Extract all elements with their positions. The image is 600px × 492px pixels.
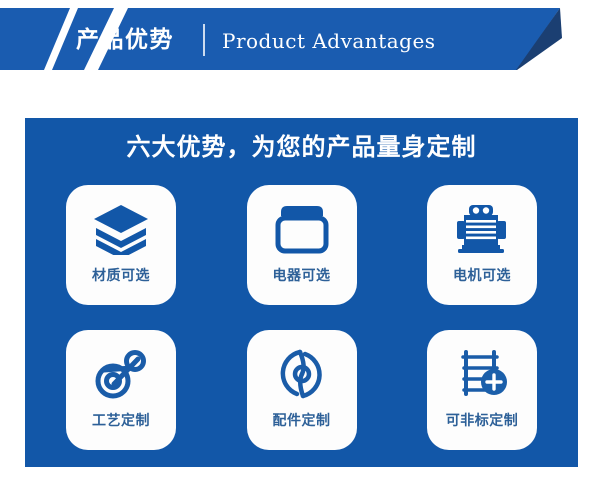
page-header: 产品优势 Product Advantages <box>0 0 600 82</box>
header-title-cn: 产品优势 <box>76 27 174 53</box>
panel-headline: 六大优势，为您的产品量身定制 <box>25 132 578 162</box>
belt-pulley-icon <box>90 345 152 403</box>
advantages-row-1: 材质可选 电器可选 <box>66 185 537 305</box>
header-title-en: Product Advantages <box>222 29 436 53</box>
advantage-card-label: 电器可选 <box>273 267 331 285</box>
advantage-card[interactable]: 材质可选 <box>66 185 176 305</box>
advantage-card[interactable]: 配件定制 <box>247 330 357 450</box>
header-divider <box>203 24 205 56</box>
advantage-card[interactable]: 电机可选 <box>427 185 537 305</box>
advantages-row-2: 工艺定制 配件定制 <box>66 330 537 450</box>
advantage-card-label: 工艺定制 <box>92 412 150 430</box>
advantage-card-label: 配件定制 <box>273 412 331 430</box>
layers-icon <box>90 200 152 258</box>
advantages-grid: 材质可选 电器可选 <box>66 185 537 450</box>
rack-plus-icon <box>451 345 513 403</box>
advantage-card-label: 可非标定制 <box>446 412 519 430</box>
advantage-card-label: 电机可选 <box>453 267 511 285</box>
electric-motor-icon <box>451 200 513 258</box>
advantage-card[interactable]: 工艺定制 <box>66 330 176 450</box>
appliance-box-icon <box>271 200 333 258</box>
advantage-card[interactable]: 可非标定制 <box>427 330 537 450</box>
impeller-fan-icon <box>271 345 333 403</box>
advantages-panel: 六大优势，为您的产品量身定制 材质可选 <box>25 118 578 467</box>
advantage-card[interactable]: 电器可选 <box>247 185 357 305</box>
advantage-card-label: 材质可选 <box>92 267 150 285</box>
